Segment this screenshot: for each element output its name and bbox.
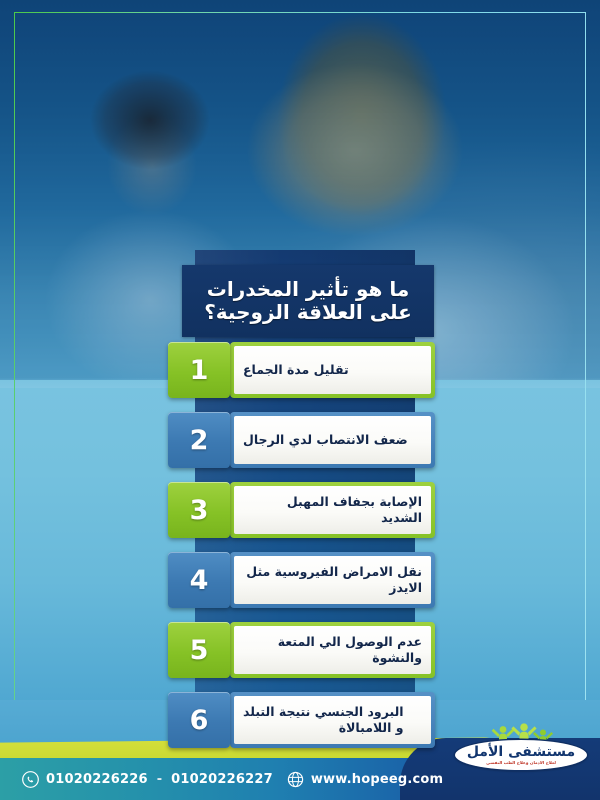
list-item-number: 3: [168, 482, 230, 538]
globe-icon[interactable]: [287, 771, 304, 788]
logo-subtitle: لعلاج الادمان وعلاج الطب النفسي: [486, 761, 556, 765]
list-item-label: البرود الجنسي نتيجة التبلدو اللامبالاة: [243, 704, 404, 735]
list-item-number: 2: [168, 412, 230, 468]
list-item-label: الإصابة بجفاف المهبل الشديد: [243, 494, 422, 525]
page-title-line-1: ما هو تأثير المخدرات: [207, 279, 410, 301]
list-item-number: 1: [168, 342, 230, 398]
website-url[interactable]: www.hopeeg.com: [311, 772, 444, 787]
phone-number-1[interactable]: 01020226226: [46, 772, 148, 787]
list-item: تقليل مدة الجماع1: [0, 342, 600, 398]
list-item-card: عدم الوصول الي المتعة والنشوة: [230, 622, 435, 678]
page-title-line-2: على العلاقة الزوجية؟: [204, 302, 412, 324]
list-item: نقل الامراض الفيروسية مثل الايدز4: [0, 552, 600, 608]
list-item: ضعف الانتصاب لدي الرجال2: [0, 412, 600, 468]
list-item-card: البرود الجنسي نتيجة التبلدو اللامبالاة: [230, 692, 435, 748]
page-title: ما هو تأثير المخدرات على العلاقة الزوجية…: [182, 265, 434, 337]
list-item: الإصابة بجفاف المهبل الشديد3: [0, 482, 600, 538]
list-item-number: 4: [168, 552, 230, 608]
list-item: عدم الوصول الي المتعة والنشوة5: [0, 622, 600, 678]
logo-oval: مستشفى الأمل لعلاج الادمان وعلاج الطب ال…: [455, 740, 587, 770]
infographic-canvas: ما هو تأثير المخدرات على العلاقة الزوجية…: [0, 0, 600, 800]
hospital-logo[interactable]: مستشفى الأمل لعلاج الادمان وعلاج الطب ال…: [455, 722, 587, 780]
list-item-card: نقل الامراض الفيروسية مثل الايدز: [230, 552, 435, 608]
list-item-card: ضعف الانتصاب لدي الرجال: [230, 412, 435, 468]
contact-info: 01020226226 - 01020226227 www.hopeeg.com: [0, 758, 420, 800]
phone-number-2[interactable]: 01020226227: [171, 772, 273, 787]
list-item-label: تقليل مدة الجماع: [243, 362, 349, 378]
list-item-card: الإصابة بجفاف المهبل الشديد: [230, 482, 435, 538]
list-item-card: تقليل مدة الجماع: [230, 342, 435, 398]
whatsapp-icon[interactable]: [22, 771, 39, 788]
list-item-label: عدم الوصول الي المتعة والنشوة: [243, 634, 422, 665]
list-item-number: 5: [168, 622, 230, 678]
phone-separator: -: [155, 772, 164, 787]
list-item-number: 6: [168, 692, 230, 748]
logo-name: مستشفى الأمل: [467, 745, 575, 759]
list-item-label: ضعف الانتصاب لدي الرجال: [243, 432, 408, 448]
effects-list: تقليل مدة الجماع1ضعف الانتصاب لدي الرجال…: [0, 342, 600, 762]
list-item-label: نقل الامراض الفيروسية مثل الايدز: [243, 564, 422, 595]
